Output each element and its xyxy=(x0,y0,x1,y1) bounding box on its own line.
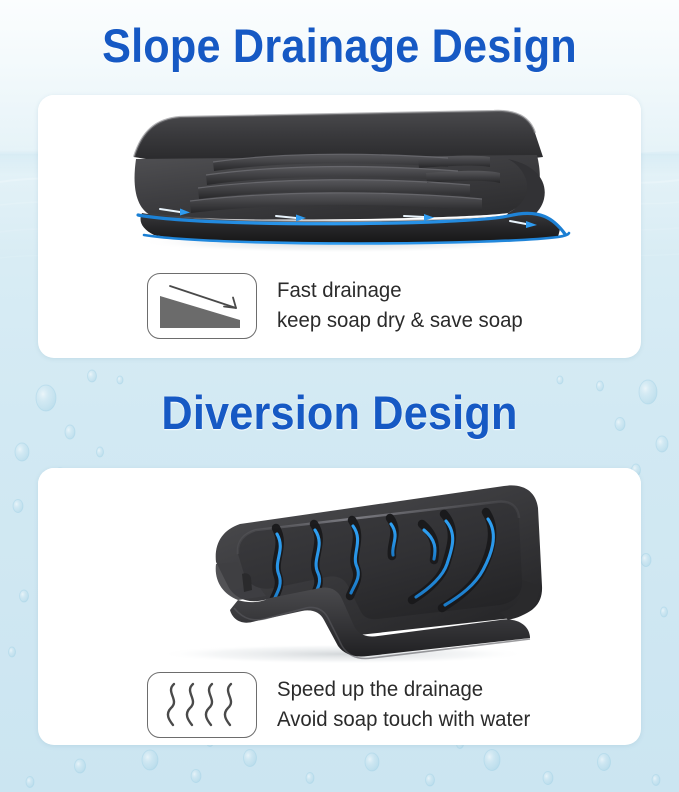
infographic-page: Slope Drainage Design xyxy=(0,0,679,792)
section-1-product-photo xyxy=(38,95,641,255)
section-2-title: Diversion Design xyxy=(27,389,652,436)
feature-line: Fast drainage xyxy=(277,276,523,306)
feature-line: keep soap dry & save soap xyxy=(277,306,523,336)
section-1-feature-text: Fast drainage keep soap dry & save soap xyxy=(277,276,523,336)
section-1-card: Fast drainage keep soap dry & save soap xyxy=(38,95,641,358)
wavy-lines-icon xyxy=(147,672,257,738)
slope-ramp-icon xyxy=(147,273,257,339)
section-1-feature-row: Fast drainage keep soap dry & save soap xyxy=(38,258,641,354)
feature-line: Speed up the drainage xyxy=(277,675,530,705)
section-1-title: Slope Drainage Design xyxy=(27,22,652,69)
feature-line: Avoid soap touch with water xyxy=(277,705,530,735)
section-2-feature-text: Speed up the drainage Avoid soap touch w… xyxy=(277,675,530,735)
section-2-feature-row: Speed up the drainage Avoid soap touch w… xyxy=(38,666,641,744)
section-2-product-photo xyxy=(38,468,641,668)
section-2-card: Speed up the drainage Avoid soap touch w… xyxy=(38,468,641,745)
